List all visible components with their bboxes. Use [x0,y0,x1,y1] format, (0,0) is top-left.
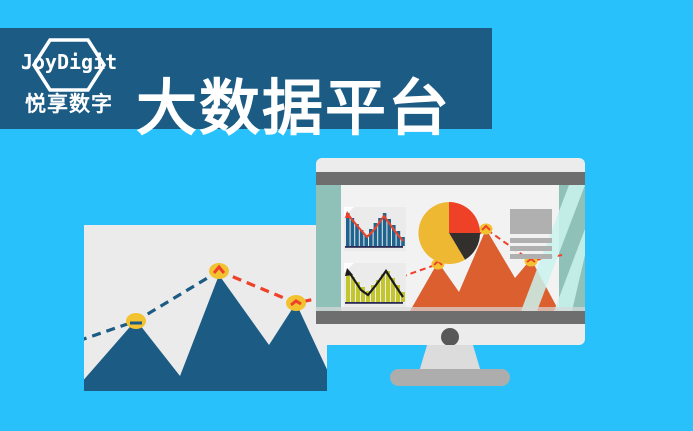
monitor-stand-neck [419,345,481,372]
logo-chinese-text: 悦享数字 [14,94,124,116]
dashboard-graphic [316,185,585,311]
pie-chart [418,202,480,264]
bar-chart-blue-card [344,207,406,251]
monitor-top-bezel [316,172,585,185]
header-banner: JoyDigit 悦享数字 大数据平台 [0,28,492,129]
mountain-shape-blue [84,275,327,391]
monitor-bottom-bezel [316,311,585,324]
screen-left-band [316,185,341,311]
logo-latin-text: JoyDigit [14,52,124,72]
monitor-stand-base [390,369,510,386]
brand-logo: JoyDigit 悦享数字 [14,36,124,122]
monitor-power-button[interactable] [441,328,459,346]
data-marker [286,295,306,311]
bar-chart-olive-card [344,263,406,307]
monitor-screen [316,185,585,311]
left-area-chart [84,225,327,391]
page-title: 大数据平台 [136,75,451,141]
left-area-chart-panel [84,225,327,391]
poster-canvas: JoyDigit 悦享数字 大数据平台 [0,0,693,431]
desktop-monitor [316,158,585,345]
data-marker [126,313,146,329]
